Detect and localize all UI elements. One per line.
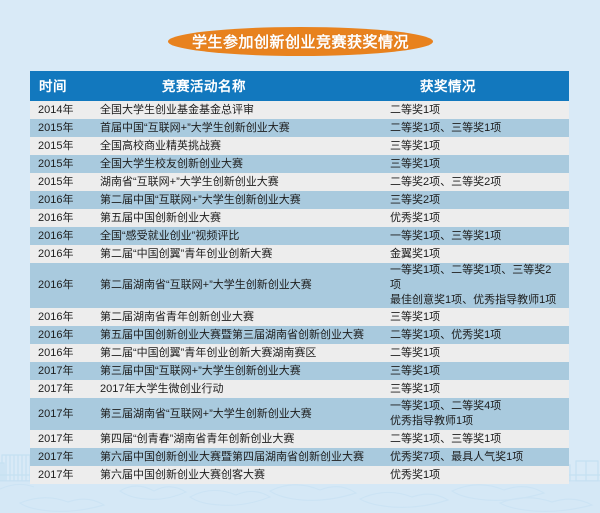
cell-award: 优秀奖1项 bbox=[382, 211, 561, 226]
cell-award: 三等奖1项 bbox=[382, 139, 561, 154]
cell-time: 2015年 bbox=[30, 121, 92, 136]
cell-award: 二等奖1项、三等奖1项 bbox=[382, 432, 561, 447]
cell-time: 2016年 bbox=[30, 211, 92, 226]
table-row: 2016年第二届湖南省“互联网+”大学生创新创业大赛一等奖1项、二等奖1项、三等… bbox=[30, 263, 569, 308]
cell-name: 首届中国“互联网+”大学生创新创业大赛 bbox=[92, 121, 382, 136]
table-row: 2015年湖南省“互联网+”大学生创新创业大赛二等奖2项、三等奖2项 bbox=[30, 173, 569, 191]
cell-award: 三等奖1项 bbox=[382, 382, 561, 397]
cell-name: 第四届“创青春”湖南省青年创新创业大赛 bbox=[92, 432, 382, 447]
table-row: 2016年第二届湖南省青年创新创业大赛三等奖1项 bbox=[30, 308, 569, 326]
cell-time: 2016年 bbox=[30, 328, 92, 343]
cell-name: 第三届中国“互联网+”大学生创新创业大赛 bbox=[92, 364, 382, 379]
table-row: 2017年第四届“创青春”湖南省青年创新创业大赛二等奖1项、三等奖1项 bbox=[30, 430, 569, 448]
table-row: 2017年第三届中国“互联网+”大学生创新创业大赛三等奖1项 bbox=[30, 362, 569, 380]
cell-time: 2015年 bbox=[30, 139, 92, 154]
cell-name: 全国“感受就业创业”视频评比 bbox=[92, 229, 382, 244]
cell-time: 2015年 bbox=[30, 175, 92, 190]
cell-award: 三等奖1项 bbox=[382, 310, 561, 325]
table-row: 2017年第六届中国创新创业大赛暨第四届湖南省创新创业大赛优秀奖7项、最具人气奖… bbox=[30, 448, 569, 466]
cell-time: 2014年 bbox=[30, 103, 92, 118]
page-title: 学生参加创新创业竞赛获奖情况 bbox=[192, 31, 409, 52]
cell-name: 第五届中国创新创业大赛 bbox=[92, 211, 382, 226]
table-body: 2014年全国大学生创业基金基金总评审二等奖1项2015年首届中国“互联网+”大… bbox=[30, 101, 569, 484]
cell-award: 二等奖2项、三等奖2项 bbox=[382, 175, 561, 190]
cell-award: 二等奖1项、三等奖1项 bbox=[382, 121, 561, 136]
table-row: 2015年全国高校商业精英挑战赛三等奖1项 bbox=[30, 137, 569, 155]
cell-name: 第二届湖南省青年创新创业大赛 bbox=[92, 310, 382, 325]
cell-award: 三等奖2项 bbox=[382, 193, 561, 208]
cell-name: 第五届中国创新创业大赛暨第三届湖南省创新创业大赛 bbox=[92, 328, 382, 343]
cell-name: 第三届湖南省“互联网+”大学生创新创业大赛 bbox=[92, 407, 382, 422]
cell-time: 2016年 bbox=[30, 278, 92, 293]
table-row: 2016年第五届中国创新创业大赛暨第三届湖南省创新创业大赛二等奖1项、优秀奖1项 bbox=[30, 326, 569, 344]
column-header-time: 时间 bbox=[30, 79, 92, 94]
cell-time: 2017年 bbox=[30, 468, 92, 483]
cell-award: 优秀奖7项、最具人气奖1项 bbox=[382, 450, 561, 465]
cell-time: 2016年 bbox=[30, 229, 92, 244]
cell-award: 三等奖1项 bbox=[382, 157, 561, 172]
table-row: 2016年全国“感受就业创业”视频评比一等奖1项、三等奖1项 bbox=[30, 227, 569, 245]
cell-time: 2017年 bbox=[30, 407, 92, 422]
cell-award: 二等奖1项 bbox=[382, 103, 561, 118]
cell-name: 全国大学生校友创新创业大赛 bbox=[92, 157, 382, 172]
cell-name: 第二届湖南省“互联网+”大学生创新创业大赛 bbox=[92, 278, 382, 293]
table-row: 2016年第五届中国创新创业大赛优秀奖1项 bbox=[30, 209, 569, 227]
table-row: 2016年第二届“中国创翼”青年创业创新大赛金翼奖1项 bbox=[30, 245, 569, 263]
table-row: 2017年2017年大学生微创业行动三等奖1项 bbox=[30, 380, 569, 398]
table-row: 2016年第二届中国“互联网+”大学生创新创业大赛三等奖2项 bbox=[30, 191, 569, 209]
cell-name: 全国高校商业精英挑战赛 bbox=[92, 139, 382, 154]
cell-time: 2017年 bbox=[30, 364, 92, 379]
cell-time: 2016年 bbox=[30, 346, 92, 361]
table-row: 2015年首届中国“互联网+”大学生创新创业大赛二等奖1项、三等奖1项 bbox=[30, 119, 569, 137]
cell-time: 2017年 bbox=[30, 450, 92, 465]
page-title-banner: 学生参加创新创业竞赛获奖情况 bbox=[168, 27, 433, 56]
cell-award: 一等奖1项、二等奖1项、三等奖2项 最佳创意奖1项、优秀指导教师1项 bbox=[382, 263, 561, 308]
cell-time: 2017年 bbox=[30, 432, 92, 447]
cell-award: 一等奖1项、二等奖4项 优秀指导教师1项 bbox=[382, 399, 561, 429]
awards-table: 时间 竞赛活动名称 获奖情况 2014年全国大学生创业基金基金总评审二等奖1项2… bbox=[30, 71, 569, 484]
column-header-award: 获奖情况 bbox=[382, 79, 561, 94]
table-row: 2015年全国大学生校友创新创业大赛三等奖1项 bbox=[30, 155, 569, 173]
cell-time: 2016年 bbox=[30, 193, 92, 208]
cell-name: 第六届中国创新创业大赛创客大赛 bbox=[92, 468, 382, 483]
cell-award: 二等奖1项、优秀奖1项 bbox=[382, 328, 561, 343]
cell-award: 二等奖1项 bbox=[382, 346, 561, 361]
cell-name: 2017年大学生微创业行动 bbox=[92, 382, 382, 397]
cell-award: 三等奖1项 bbox=[382, 364, 561, 379]
cell-name: 第二届“中国创翼”青年创业创新大赛 bbox=[92, 247, 382, 262]
cell-name: 湖南省“互联网+”大学生创新创业大赛 bbox=[92, 175, 382, 190]
cell-award: 一等奖1项、三等奖1项 bbox=[382, 229, 561, 244]
cell-time: 2017年 bbox=[30, 382, 92, 397]
cell-award: 优秀奖1项 bbox=[382, 468, 561, 483]
table-row: 2017年第六届中国创新创业大赛创客大赛优秀奖1项 bbox=[30, 466, 569, 484]
table-row: 2016年第二届“中国创翼”青年创业创新大赛湖南赛区二等奖1项 bbox=[30, 344, 569, 362]
table-row: 2017年第三届湖南省“互联网+”大学生创新创业大赛一等奖1项、二等奖4项 优秀… bbox=[30, 398, 569, 430]
cell-name: 全国大学生创业基金基金总评审 bbox=[92, 103, 382, 118]
cell-time: 2016年 bbox=[30, 310, 92, 325]
cell-name: 第二届中国“互联网+”大学生创新创业大赛 bbox=[92, 193, 382, 208]
cell-time: 2016年 bbox=[30, 247, 92, 262]
table-row: 2014年全国大学生创业基金基金总评审二等奖1项 bbox=[30, 101, 569, 119]
cell-time: 2015年 bbox=[30, 157, 92, 172]
cell-name: 第二届“中国创翼”青年创业创新大赛湖南赛区 bbox=[92, 346, 382, 361]
cell-name: 第六届中国创新创业大赛暨第四届湖南省创新创业大赛 bbox=[92, 450, 382, 465]
column-header-name: 竞赛活动名称 bbox=[92, 79, 382, 94]
table-header-row: 时间 竞赛活动名称 获奖情况 bbox=[30, 71, 569, 101]
cell-award: 金翼奖1项 bbox=[382, 247, 561, 262]
